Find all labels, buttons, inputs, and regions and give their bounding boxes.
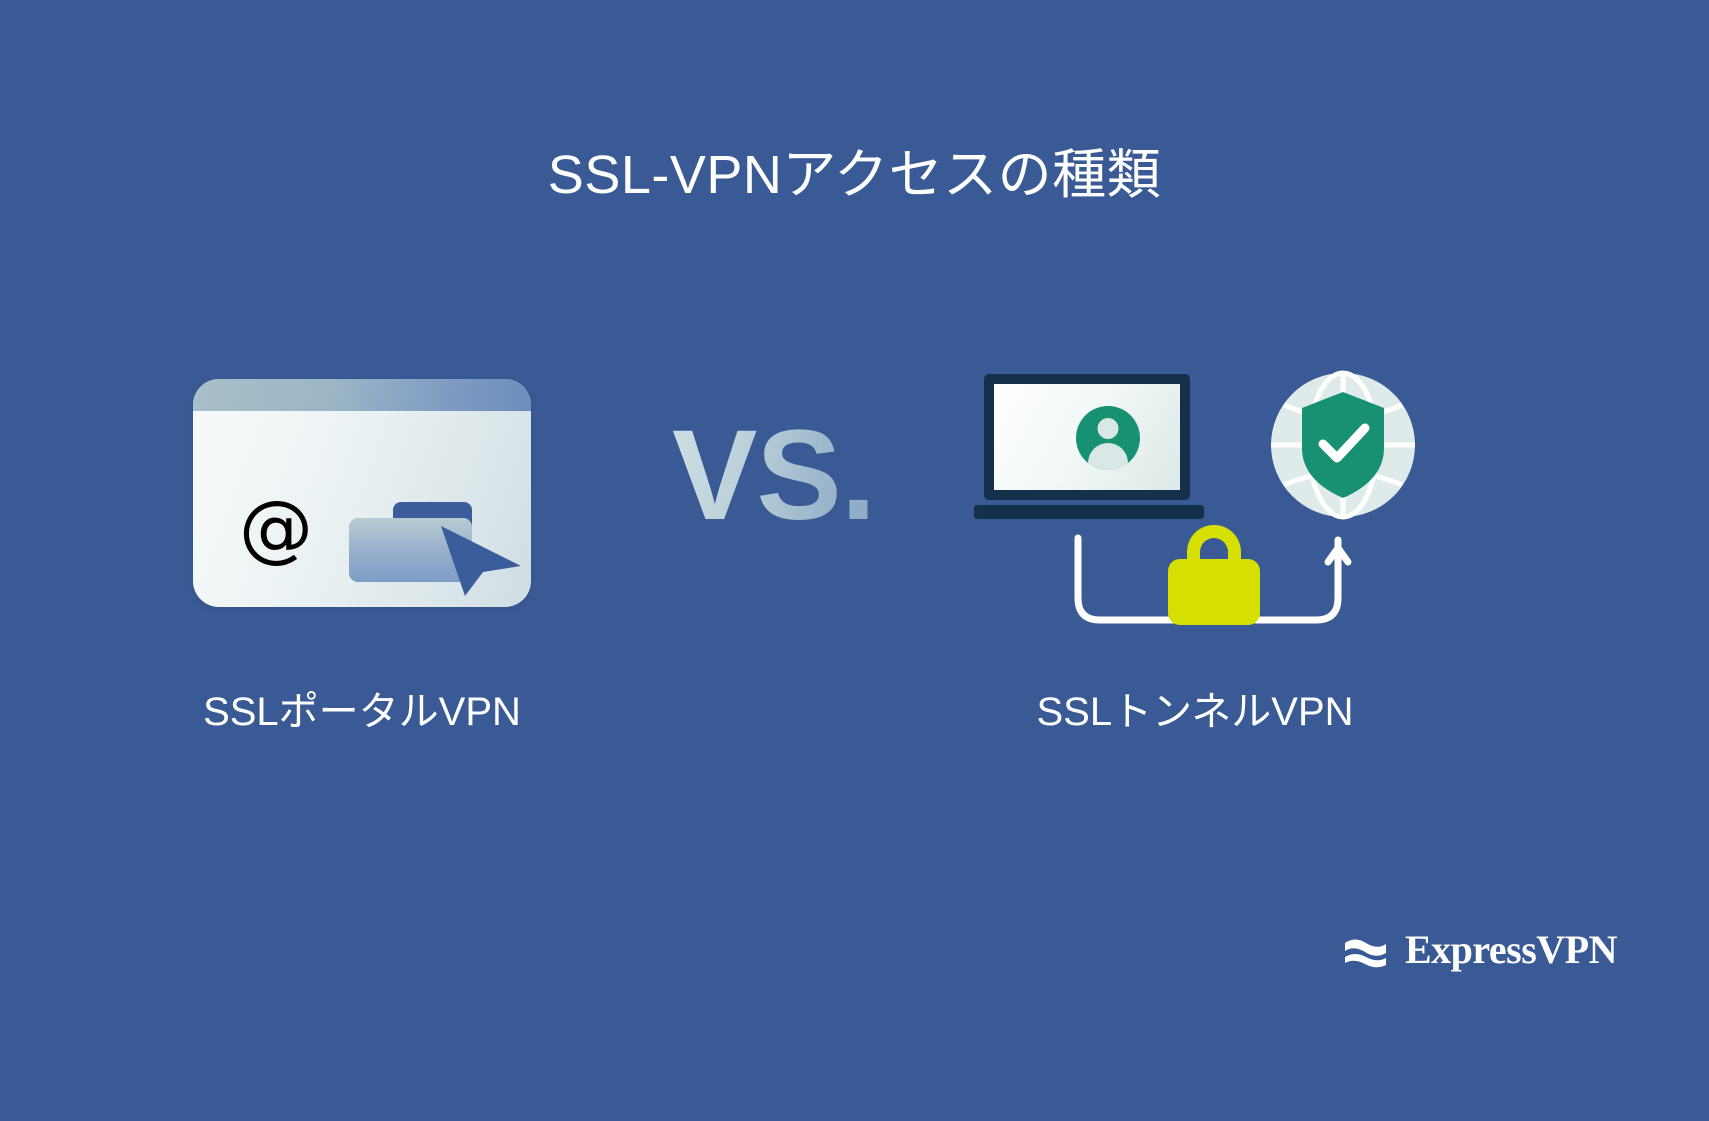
laptop-base (974, 505, 1204, 519)
padlock-body-shape (1168, 559, 1260, 625)
user-avatar-icon (1076, 406, 1140, 470)
padlock-icon (1168, 525, 1260, 625)
card-title-bar (193, 379, 531, 411)
globe-icon (1268, 370, 1418, 520)
ssl-tunnel-illustration (960, 370, 1430, 650)
laptop-icon (974, 374, 1204, 519)
left-option-label: SSLポータルVPN (0, 692, 724, 732)
ssl-portal-illustration: @ (193, 379, 531, 607)
brand-logo-text: ExpressVPN (1405, 930, 1617, 970)
avatar-body-shape (1088, 443, 1128, 470)
expressvpn-logo-mark (1339, 924, 1391, 976)
avatar-head-shape (1098, 418, 1119, 439)
versus-divider: VS. (672, 412, 922, 540)
brand-logo: ExpressVPN (1339, 924, 1617, 976)
at-sign-icon: @ (239, 491, 313, 565)
infographic-canvas: SSL-VPNアクセスの種類 @ VS. (0, 0, 1709, 1121)
cursor-arrow-icon (439, 522, 523, 598)
right-option-label: SSLトンネルVPN (985, 692, 1405, 732)
page-title: SSL-VPNアクセスの種類 (0, 146, 1709, 205)
